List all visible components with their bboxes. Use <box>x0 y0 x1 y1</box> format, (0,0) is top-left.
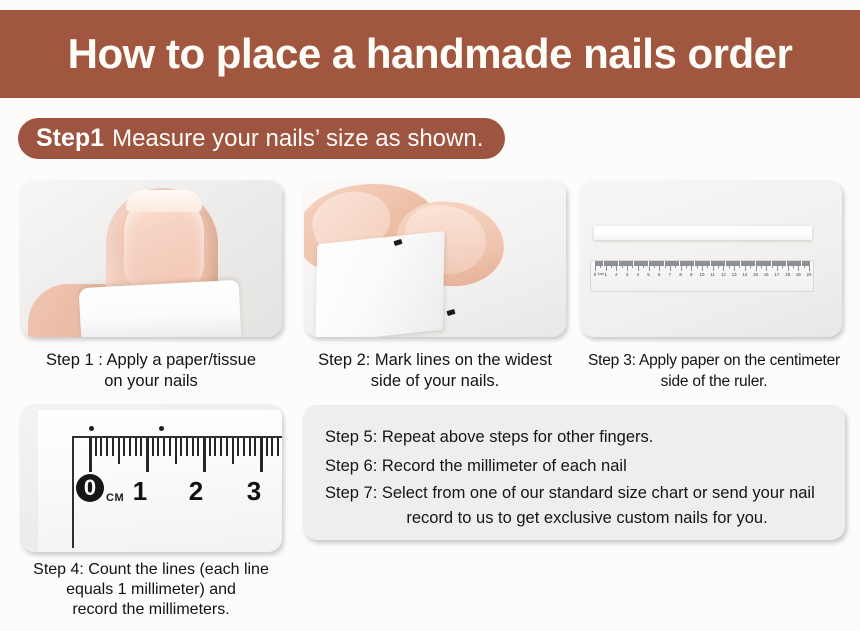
ruler-number-8: 8 <box>679 272 681 277</box>
step7-line-part1: Step 7: Select from one of our standard … <box>325 484 815 502</box>
ruler-tick <box>209 438 211 456</box>
ruler-tick <box>129 438 131 456</box>
long-ruler: 012345678910111213141516171819201cm <box>590 260 814 292</box>
ruler-number-20: 20 <box>807 272 812 277</box>
ruler-tick <box>112 438 114 456</box>
caption-step3-line1: Step 3: Apply paper on the centimeter <box>574 350 854 371</box>
photo-paper-on-ruler: 012345678910111213141516171819201cm <box>580 180 842 337</box>
ruler-unit-label: 1cm <box>597 272 604 276</box>
caption-step2-line2: side of your nails. <box>296 371 574 392</box>
ruler-tick <box>140 438 142 456</box>
ruler-number-18: 18 <box>785 272 790 277</box>
caption-step2-line1: Step 2: Mark lines on the widest <box>296 350 574 371</box>
paper-strip-shape <box>594 226 812 240</box>
ruler-number-13: 13 <box>732 272 737 277</box>
caption-step2: Step 2: Mark lines on the widest side of… <box>296 350 574 392</box>
ruler-tick <box>135 438 137 456</box>
ruler-number-7: 7 <box>669 272 671 277</box>
ruler-number-17: 17 <box>774 272 779 277</box>
ruler-zero-label: 0 <box>76 474 104 502</box>
ruler-number-3: 3 <box>626 272 628 277</box>
paper-tissue-wrap <box>79 280 242 337</box>
ruler-number-19: 19 <box>796 272 801 277</box>
ruler-tick <box>266 438 268 456</box>
ruler-tick <box>186 438 188 456</box>
ruler-tick <box>192 438 194 456</box>
ruler-tick <box>95 438 97 456</box>
ruler-number-labels: 012345678910111213141516171819201cm <box>591 272 813 284</box>
caption-step4: Step 4: Count the lines (each line equal… <box>6 560 296 620</box>
step1-label: Step1 <box>36 124 104 153</box>
ruler-number-0: 0 <box>594 272 596 277</box>
ruler-label-2: 2 <box>189 476 203 507</box>
step7-line: Step 7: Select from one of our standard … <box>325 481 823 531</box>
ruler-tick <box>243 438 245 456</box>
ruler-tick <box>146 438 149 472</box>
photo-marking-paper <box>304 180 566 337</box>
steps-5-7-panel: Step 5: Repeat above steps for other fin… <box>303 405 845 540</box>
step1-badge-pill: Step1 Measure your nails’ size as shown. <box>18 118 505 159</box>
caption-step4-line2: equals 1 millimeter) and <box>6 580 296 600</box>
ruler-tick <box>163 438 165 456</box>
ruler-left-edge-line <box>72 436 74 548</box>
ruler-tick <box>809 261 810 271</box>
ruler-tick <box>277 438 279 456</box>
ruler-number-12: 12 <box>721 272 726 277</box>
ruler-label-1: 1 <box>133 476 147 507</box>
step5-line: Step 5: Repeat above steps for other fin… <box>325 423 823 452</box>
ruler-tick <box>106 438 108 456</box>
ruler-number-6: 6 <box>658 272 660 277</box>
header-banner: How to place a handmade nails order <box>0 10 860 98</box>
photo-ruler-closeup: 0 CM 1 2 3 <box>20 404 282 552</box>
ruler-tick <box>123 438 125 456</box>
nail-tip-shape <box>126 190 202 212</box>
ruler-tick <box>237 438 239 456</box>
ruler-number-16: 16 <box>764 272 769 277</box>
ruler-tick <box>118 438 120 464</box>
ruler-tick <box>100 438 102 456</box>
caption-step1-line1: Step 1 : Apply a paper/tissue <box>6 350 296 371</box>
ruler-tick <box>254 438 256 456</box>
caption-step1-line2: on your nails <box>6 371 296 392</box>
ruler-tick <box>169 438 171 456</box>
ruler-label-3: 3 <box>247 476 261 507</box>
ruler-tick <box>180 438 182 456</box>
caption-step4-line3: record the millimeters. <box>6 600 296 620</box>
caption-step3-line2: side of the ruler. <box>574 371 854 392</box>
ruler-number-10: 10 <box>700 272 705 277</box>
caption-step3: Step 3: Apply paper on the centimeter si… <box>574 350 854 392</box>
measure-dot-end <box>159 426 164 431</box>
ruler-tick <box>89 438 92 472</box>
ruler-number-2: 2 <box>615 272 617 277</box>
ruler-number-5: 5 <box>647 272 649 277</box>
ruler-tick <box>203 438 206 472</box>
ruler-tick <box>175 438 177 464</box>
card-step2-photo <box>304 180 566 337</box>
step6-line: Step 6: Record the millimeter of each na… <box>325 452 823 481</box>
ruler-number-1: 1 <box>604 272 606 277</box>
ruler-unit-label: CM <box>106 492 124 504</box>
ruler-tick <box>157 438 159 456</box>
ruler-tick <box>220 438 222 456</box>
card-step1-photo <box>20 180 282 337</box>
ruler-tick <box>260 438 263 472</box>
caption-step1: Step 1 : Apply a paper/tissue on your na… <box>6 350 296 392</box>
card-step4-photo: 0 CM 1 2 3 <box>20 404 282 552</box>
step1-instruction: Measure your nails’ size as shown. <box>112 125 483 153</box>
measure-dot-start <box>89 426 94 431</box>
paper-strip-shape <box>315 231 444 337</box>
ruler-tick <box>271 438 273 456</box>
photo-finger-with-tissue <box>20 180 282 337</box>
ruler-body <box>38 410 282 552</box>
ruler-tick <box>249 438 251 456</box>
ruler-tick <box>232 438 234 464</box>
caption-step4-line1: Step 4: Count the lines (each line <box>6 560 296 580</box>
photo-background <box>580 180 842 337</box>
ruler-tick <box>214 438 216 456</box>
ruler-number-11: 11 <box>710 272 715 277</box>
ruler-tick <box>197 438 199 456</box>
card-step3-photo: 012345678910111213141516171819201cm <box>580 180 842 337</box>
ruler-number-14: 14 <box>742 272 747 277</box>
ruler-number-15: 15 <box>753 272 758 277</box>
step7-line-part2: record to us to get exclusive custom nai… <box>325 506 823 531</box>
ruler-number-4: 4 <box>637 272 639 277</box>
ruler-tick <box>226 438 228 456</box>
ruler-tick-marks <box>591 261 813 272</box>
ruler-number-9: 9 <box>690 272 692 277</box>
ruler-tick <box>152 438 154 456</box>
page-title: How to place a handmade nails order <box>68 30 793 78</box>
